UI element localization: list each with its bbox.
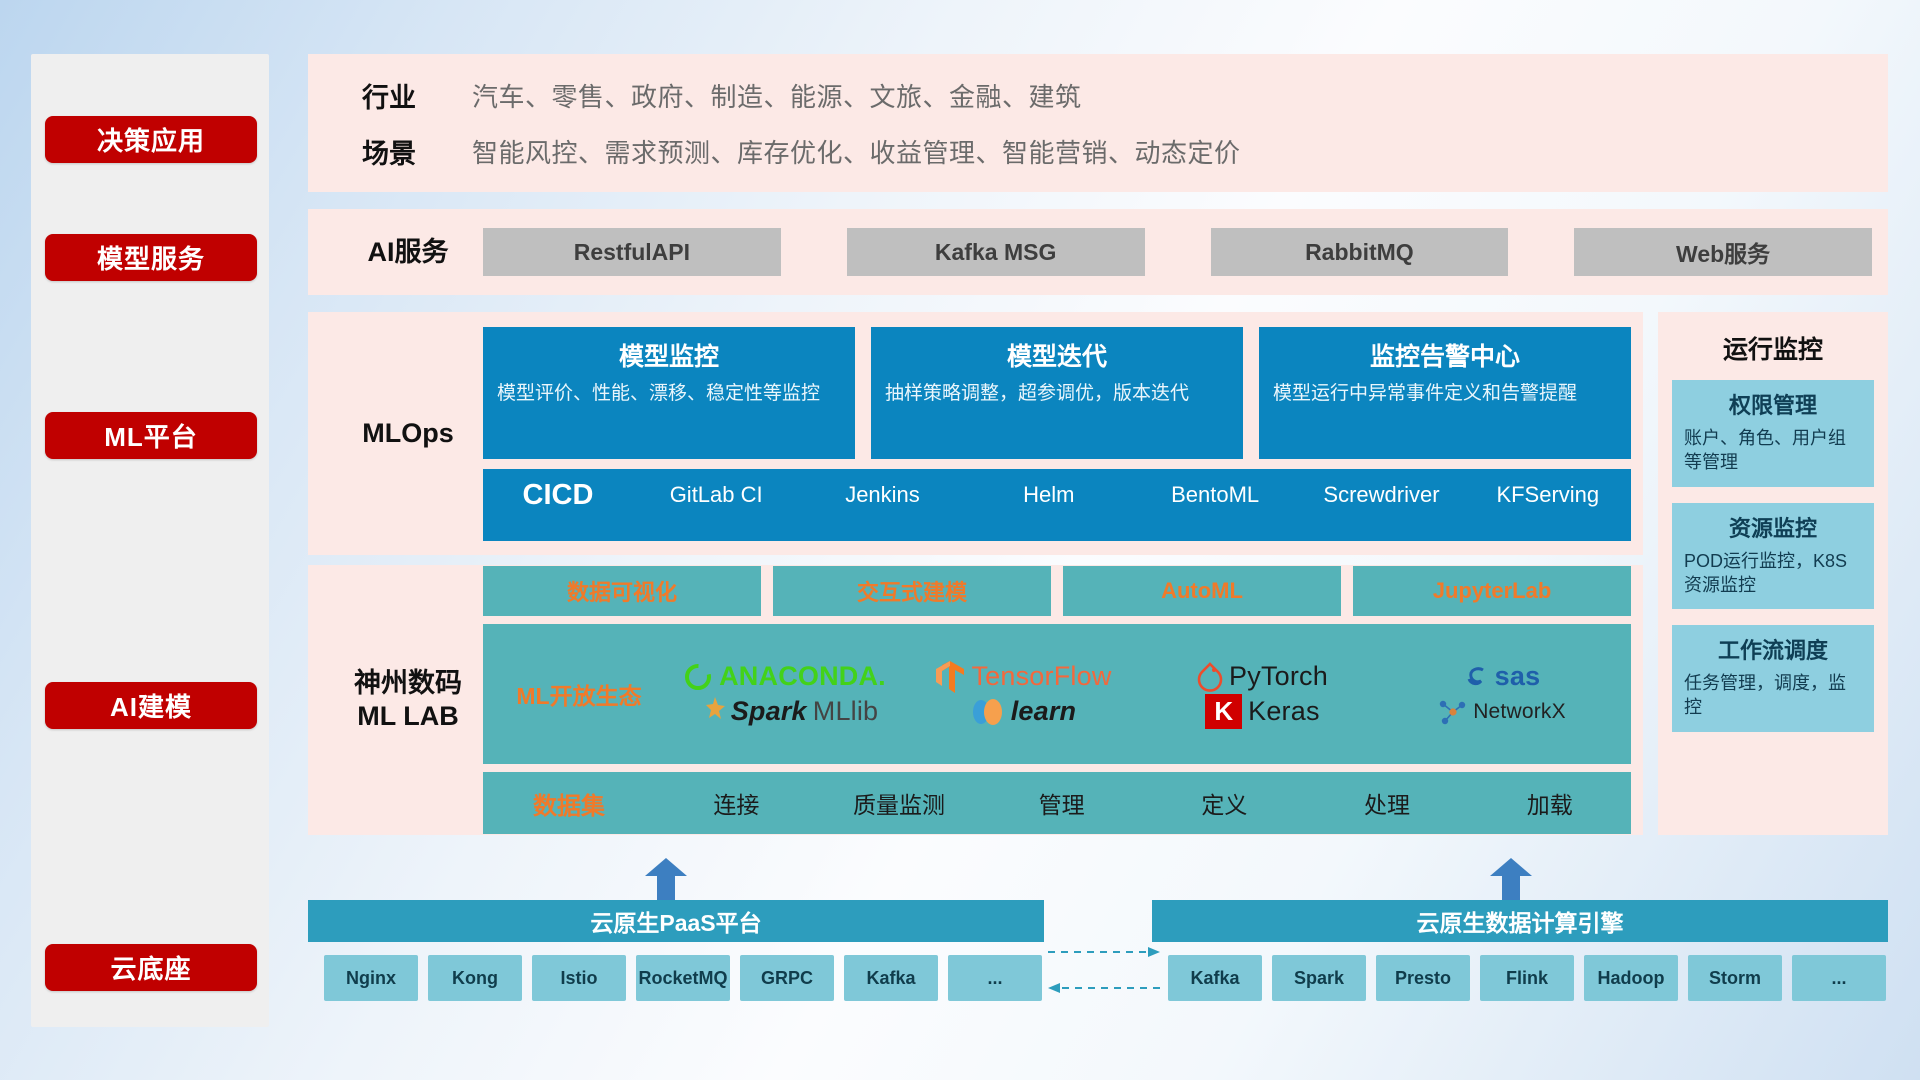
monitor-card-workflow[interactable]: 工作流调度 任务管理，调度，监控: [1672, 625, 1874, 732]
card-desc: POD运行监控，K8S资源监控: [1684, 549, 1862, 598]
rail-label: 云底座: [110, 949, 191, 986]
scenario-label: 场景: [336, 132, 472, 171]
dataset-item-define[interactable]: 定义: [1143, 786, 1306, 820]
card-title: 权限管理: [1684, 388, 1862, 420]
paas-platform-label: 云原生PaaS平台: [590, 904, 761, 938]
networkx-logo: NetworkX: [1437, 698, 1566, 726]
paas-pill-row: Nginx Kong Istio RocketMQ GRPC Kafka ...: [324, 955, 1042, 1001]
runtime-monitoring-title: 运行监控: [1672, 330, 1874, 366]
industry-scenario-band: 行业 汽车、零售、政府、制造、能源、文旅、金融、建筑 场景 智能风控、需求预测、…: [308, 54, 1888, 192]
service-chip-restfulapi[interactable]: RestfulAPI: [483, 228, 781, 276]
cicd-item-bentoml[interactable]: BentoML: [1132, 479, 1298, 509]
dataset-item-load[interactable]: 加载: [1468, 786, 1631, 820]
sas-logo: sas: [1463, 661, 1541, 692]
rail-item-ml-platform[interactable]: ML平台: [45, 412, 257, 459]
anaconda-mark-icon: [683, 662, 713, 692]
cicd-item-helm[interactable]: Helm: [966, 479, 1132, 509]
cicd-item-jenkins[interactable]: Jenkins: [799, 479, 965, 509]
arrow-up-left: [645, 858, 687, 902]
pytorch-logo: PyTorch: [1197, 661, 1328, 692]
spark-mark-icon: [691, 697, 725, 727]
service-chip-label: RabbitMQ: [1305, 239, 1414, 266]
ml-lab-label-line2: ML LAB: [333, 700, 483, 733]
pill-istio[interactable]: Istio: [532, 955, 626, 1001]
ml-ecosystem-row: ML开放生态 ANACONDA. TensorFlow: [483, 624, 1631, 764]
ml-lab-content: 数据可视化 交互式建模 AutoML JupyterLab ML开放生态 ANA…: [483, 566, 1643, 834]
dataset-item-process[interactable]: 处理: [1306, 786, 1469, 820]
pill-more-left[interactable]: ...: [948, 955, 1042, 1001]
card-title: 工作流调度: [1684, 633, 1862, 665]
pill-presto[interactable]: Presto: [1376, 955, 1470, 1001]
pill-more-right[interactable]: ...: [1792, 955, 1886, 1001]
rail-label: ML平台: [104, 417, 198, 454]
card-title: 资源监控: [1684, 511, 1862, 543]
arrow-up-right: [1490, 858, 1532, 902]
ml-lab-label: 神州数码 ML LAB: [333, 667, 483, 733]
dataset-label: 数据集: [483, 786, 655, 821]
mllib-logo-text: MLlib: [813, 696, 879, 727]
pytorch-logo-text: PyTorch: [1229, 661, 1328, 692]
spark-mllib-logo: Spark MLlib: [691, 696, 879, 727]
ml-lab-tool-list: 数据可视化 交互式建模 AutoML JupyterLab: [483, 566, 1631, 616]
spark-logo-text: Spark: [731, 696, 807, 727]
pytorch-mark-icon: [1197, 662, 1223, 692]
cicd-bar: CICD GitLab CI Jenkins Helm BentoML Scre…: [483, 469, 1631, 541]
paas-platform-bar[interactable]: 云原生PaaS平台: [308, 900, 1044, 942]
scenario-values: 智能风控、需求预测、库存优化、收益管理、智能营销、动态定价: [472, 133, 1241, 170]
industry-row: 行业 汽车、零售、政府、制造、能源、文旅、金融、建筑: [336, 67, 1888, 123]
pill-hadoop[interactable]: Hadoop: [1584, 955, 1678, 1001]
scikit-mark-icon: [971, 696, 1005, 728]
anaconda-logo-text: ANACONDA.: [719, 661, 886, 692]
tool-automl[interactable]: AutoML: [1063, 566, 1341, 616]
service-chip-web[interactable]: Web服务: [1574, 228, 1872, 276]
tensorflow-mark-icon: [935, 660, 965, 694]
networkx-mark-icon: [1437, 698, 1467, 726]
anaconda-logo: ANACONDA.: [683, 661, 886, 692]
dataset-item-manage[interactable]: 管理: [980, 786, 1143, 820]
cicd-item-gitlab-ci[interactable]: GitLab CI: [633, 479, 799, 509]
tensorflow-logo: TensorFlow: [935, 660, 1111, 694]
cicd-item-kfserving[interactable]: KFServing: [1465, 479, 1631, 509]
rail-label: AI建模: [110, 687, 192, 724]
dataset-item-quality[interactable]: 质量监测: [818, 786, 981, 820]
rail-item-ai-modeling[interactable]: AI建模: [45, 682, 257, 729]
mlops-content: 模型监控 模型评价、性能、漂移、稳定性等监控 模型迭代 抽样策略调整，超参调优，…: [483, 327, 1643, 541]
tool-data-visualization[interactable]: 数据可视化: [483, 566, 761, 616]
scikit-learn-logo: learn: [971, 696, 1077, 728]
ml-lab-label-line1: 神州数码: [333, 667, 483, 700]
pill-grpc[interactable]: GRPC: [740, 955, 834, 1001]
cicd-item-screwdriver[interactable]: Screwdriver: [1298, 479, 1464, 509]
card-title: 监控告警中心: [1273, 337, 1617, 373]
card-desc: 模型评价、性能、漂移、稳定性等监控: [497, 381, 841, 407]
sas-mark-icon: [1463, 664, 1489, 690]
data-compute-engine-bar[interactable]: 云原生数据计算引擎: [1152, 900, 1888, 942]
runtime-monitoring-column: 运行监控 权限管理 账户、角色、用户组等管理 资源监控 POD运行监控，K8S资…: [1658, 312, 1888, 835]
keras-logo: K Keras: [1205, 694, 1319, 729]
mlops-card-list: 模型监控 模型评价、性能、漂移、稳定性等监控 模型迭代 抽样策略调整，超参调优，…: [483, 327, 1631, 459]
pill-flink[interactable]: Flink: [1480, 955, 1574, 1001]
service-chip-label: Web服务: [1676, 235, 1770, 269]
monitor-card-permission[interactable]: 权限管理 账户、角色、用户组等管理: [1672, 380, 1874, 487]
mlops-card-alert-center[interactable]: 监控告警中心 模型运行中异常事件定义和告警提醒: [1259, 327, 1631, 459]
service-chip-kafka-msg[interactable]: Kafka MSG: [847, 228, 1145, 276]
card-desc: 抽样策略调整，超参调优，版本迭代: [885, 381, 1229, 407]
tool-jupyterlab[interactable]: JupyterLab: [1353, 566, 1631, 616]
ai-modeling-band: 神州数码 ML LAB 数据可视化 交互式建模 AutoML JupyterLa…: [308, 565, 1643, 835]
rail-item-decision-app[interactable]: 决策应用: [45, 116, 257, 163]
scenario-row: 场景 智能风控、需求预测、库存优化、收益管理、智能营销、动态定价: [336, 123, 1888, 179]
pill-rocketmq[interactable]: RocketMQ: [636, 955, 730, 1001]
pill-spark[interactable]: Spark: [1272, 955, 1366, 1001]
monitor-card-resource[interactable]: 资源监控 POD运行监控，K8S资源监控: [1672, 503, 1874, 610]
card-desc: 模型运行中异常事件定义和告警提醒: [1273, 381, 1617, 407]
pill-kafka[interactable]: Kafka: [844, 955, 938, 1001]
dataset-item-connect[interactable]: 连接: [655, 786, 818, 820]
cicd-title: CICD: [483, 479, 633, 512]
sas-logo-text: sas: [1495, 661, 1541, 692]
networkx-logo-text: NetworkX: [1473, 700, 1566, 724]
ml-ecosystem-label: ML开放生态: [493, 677, 665, 711]
mlops-card-model-monitoring[interactable]: 模型监控 模型评价、性能、漂移、稳定性等监控: [483, 327, 855, 459]
rail-label: 决策应用: [97, 121, 205, 158]
dataset-row: 数据集 连接 质量监测 管理 定义 处理 加载: [483, 772, 1631, 834]
mlops-card-model-iteration[interactable]: 模型迭代 抽样策略调整，超参调优，版本迭代: [871, 327, 1243, 459]
compute-pill-row: Kafka Spark Presto Flink Hadoop Storm ..…: [1168, 955, 1886, 1001]
tensorflow-logo-text: TensorFlow: [971, 661, 1111, 692]
scikit-learn-logo-text: learn: [1011, 696, 1077, 727]
rail-item-model-service[interactable]: 模型服务: [45, 234, 257, 281]
left-rail: 决策应用 模型服务 ML平台 AI建模 云底座: [31, 54, 269, 1027]
card-title: 模型迭代: [885, 337, 1229, 373]
keras-logo-text: Keras: [1248, 696, 1320, 727]
pill-nginx[interactable]: Nginx: [324, 955, 418, 1001]
tool-interactive-modeling[interactable]: 交互式建模: [773, 566, 1051, 616]
ml-ecosystem-logo-grid: ANACONDA. TensorFlow: [665, 659, 1621, 729]
service-chip-label: Kafka MSG: [935, 239, 1056, 266]
industry-label: 行业: [336, 76, 472, 115]
mlops-label: MLOps: [333, 417, 483, 450]
cloud-link-connectors: [1044, 940, 1164, 1010]
pill-storm[interactable]: Storm: [1688, 955, 1782, 1001]
service-chip-rabbitmq[interactable]: RabbitMQ: [1211, 228, 1509, 276]
ai-service-label: AI服务: [333, 236, 483, 269]
pill-kafka-right[interactable]: Kafka: [1168, 955, 1262, 1001]
data-compute-engine-label: 云原生数据计算引擎: [1417, 904, 1624, 938]
pill-kong[interactable]: Kong: [428, 955, 522, 1001]
diagram-canvas: 决策应用 模型服务 ML平台 AI建模 云底座 行业 汽车、零售、政府、制造、能…: [0, 0, 1920, 1080]
rail-item-cloud-base[interactable]: 云底座: [45, 944, 257, 991]
rail-label: 模型服务: [97, 239, 205, 276]
card-desc: 任务管理，调度，监控: [1684, 671, 1862, 720]
ai-service-band: AI服务 RestfulAPI Kafka MSG RabbitMQ Web服务: [308, 209, 1888, 295]
ai-service-chip-list: RestfulAPI Kafka MSG RabbitMQ Web服务: [483, 228, 1888, 276]
industry-values: 汽车、零售、政府、制造、能源、文旅、金融、建筑: [472, 77, 1082, 114]
mlops-band: MLOps 模型监控 模型评价、性能、漂移、稳定性等监控 模型迭代 抽样策略调整…: [308, 312, 1643, 555]
keras-mark-icon: K: [1205, 694, 1242, 729]
service-chip-label: RestfulAPI: [574, 239, 690, 266]
card-title: 模型监控: [497, 337, 841, 373]
card-desc: 账户、角色、用户组等管理: [1684, 426, 1862, 475]
